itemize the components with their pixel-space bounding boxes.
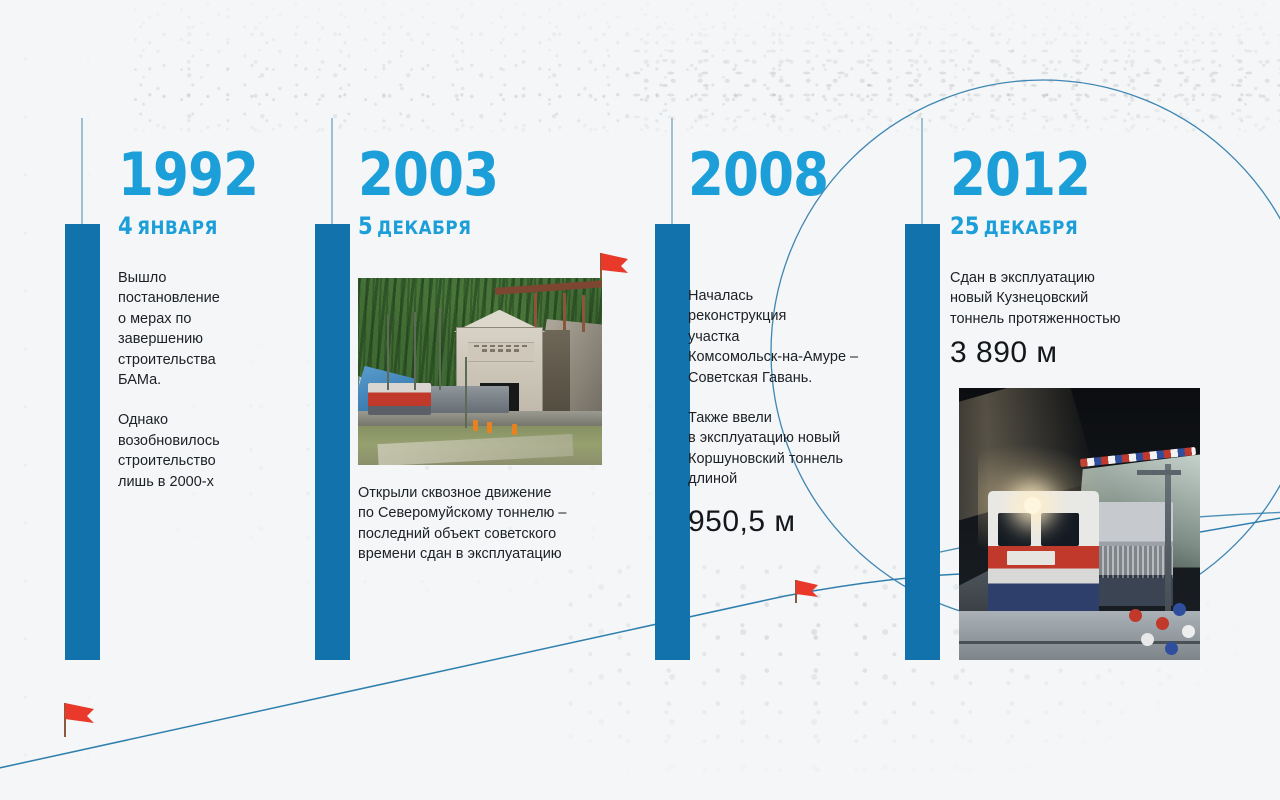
photo1-catenary-mast-2 [414, 312, 416, 391]
photo1-worker-3 [512, 424, 517, 435]
day-label-1992: 4 [118, 212, 133, 240]
date-row-1992: 4января [118, 212, 285, 240]
photo1-worker-2 [487, 422, 492, 433]
pillar-stem-2008 [671, 118, 673, 226]
paragraph-2008-1: Началась реконструкция участка Комсомоль… [688, 286, 893, 388]
photo2-balloon-5 [1165, 642, 1178, 655]
timeline-pillar-1992 [65, 224, 100, 660]
photo2-number-plate [1007, 551, 1055, 565]
kuznetsovsky-tunnel-photo [959, 388, 1200, 660]
flag-marker-1 [65, 703, 94, 737]
photo2-catenary-arm [1137, 470, 1181, 475]
photo2-balloon-2 [1156, 617, 1169, 630]
photo1-catenary-mast-3 [439, 308, 441, 390]
paragraph-2012-1: Сдан в эксплуатацию новый Кузнецовский т… [950, 268, 1185, 329]
timeline-pillar-2012 [905, 224, 940, 660]
photo1-catenary-mast-1 [387, 315, 389, 390]
pillar-stem-2003 [331, 118, 333, 226]
caption-2003: Открыли сквозное движение по Северомуйск… [358, 483, 610, 565]
timeline-pillar-2003 [315, 224, 350, 660]
photo2-cab-window-left [998, 513, 1032, 546]
timeline-entry-2012: 2012 25декабря Сдан в эксплуатацию новый… [950, 146, 1185, 371]
year-label-1992: 1992 [118, 146, 281, 204]
month-label-2003: декабря [377, 217, 471, 239]
year-label-2012: 2012 [950, 146, 1152, 204]
photo1-railcars [426, 386, 509, 412]
grunge-texture-top-2 [630, 18, 1280, 138]
timeline-entry-2003: 2003 5декабря [358, 146, 608, 240]
photo2-catenary-mast [1165, 464, 1171, 616]
month-label-1992: января [137, 217, 218, 239]
month-label-2012: декабря [984, 217, 1078, 239]
photo2-balloon-6 [1129, 609, 1142, 622]
flag-marker-3 [601, 253, 628, 285]
paragraph-2008-2: Также ввели в эксплуатацию новый Коршуно… [688, 408, 893, 490]
photo1-catenary-mast-4 [465, 357, 467, 428]
timeline-pillar-2008 [655, 224, 690, 660]
flag-marker-2 [796, 580, 818, 603]
pillar-stem-1992 [81, 118, 83, 226]
photo2-headlight [1024, 497, 1041, 514]
day-label-2012: 25 [950, 212, 979, 240]
photo1-locomotive [368, 383, 431, 415]
infographic-slide: 1992 4января Вышло постановление о мерах… [0, 0, 1280, 800]
photo1-crane-leg-c [582, 295, 585, 332]
date-row-2012: 25декабря [950, 212, 1157, 240]
photo1-worker-1 [473, 420, 478, 431]
paragraph-1992-2: Однако возобновилось строительство лишь … [118, 410, 308, 492]
year-label-2003: 2003 [358, 146, 573, 204]
photo2-cab-window-right [1041, 513, 1080, 546]
photo2-balloon-1 [1173, 603, 1186, 616]
pillar-stem-2012 [921, 118, 923, 226]
paragraph-1992-1: Вышло постановление о мерах по завершени… [118, 268, 308, 390]
timeline-entry-2008: 2008 Началась реконструкция участка Комс… [688, 146, 893, 540]
grunge-texture-top [130, 0, 1280, 145]
severomuysky-tunnel-photo [358, 278, 602, 465]
year-label-2008: 2008 [688, 146, 864, 204]
highlight-2008: 950,5 м [688, 504, 893, 540]
highlight-2012: 3 890 м [950, 335, 1185, 371]
day-label-2003: 5 [358, 212, 373, 240]
photo2-car-corrugation [1092, 546, 1174, 579]
photo1-tunnel-sign [468, 342, 534, 363]
photo2-rail-track [959, 641, 1200, 644]
date-row-2003: 5декабря [358, 212, 578, 240]
timeline-entry-1992: 1992 4января Вышло постановление о мерах… [118, 146, 308, 492]
